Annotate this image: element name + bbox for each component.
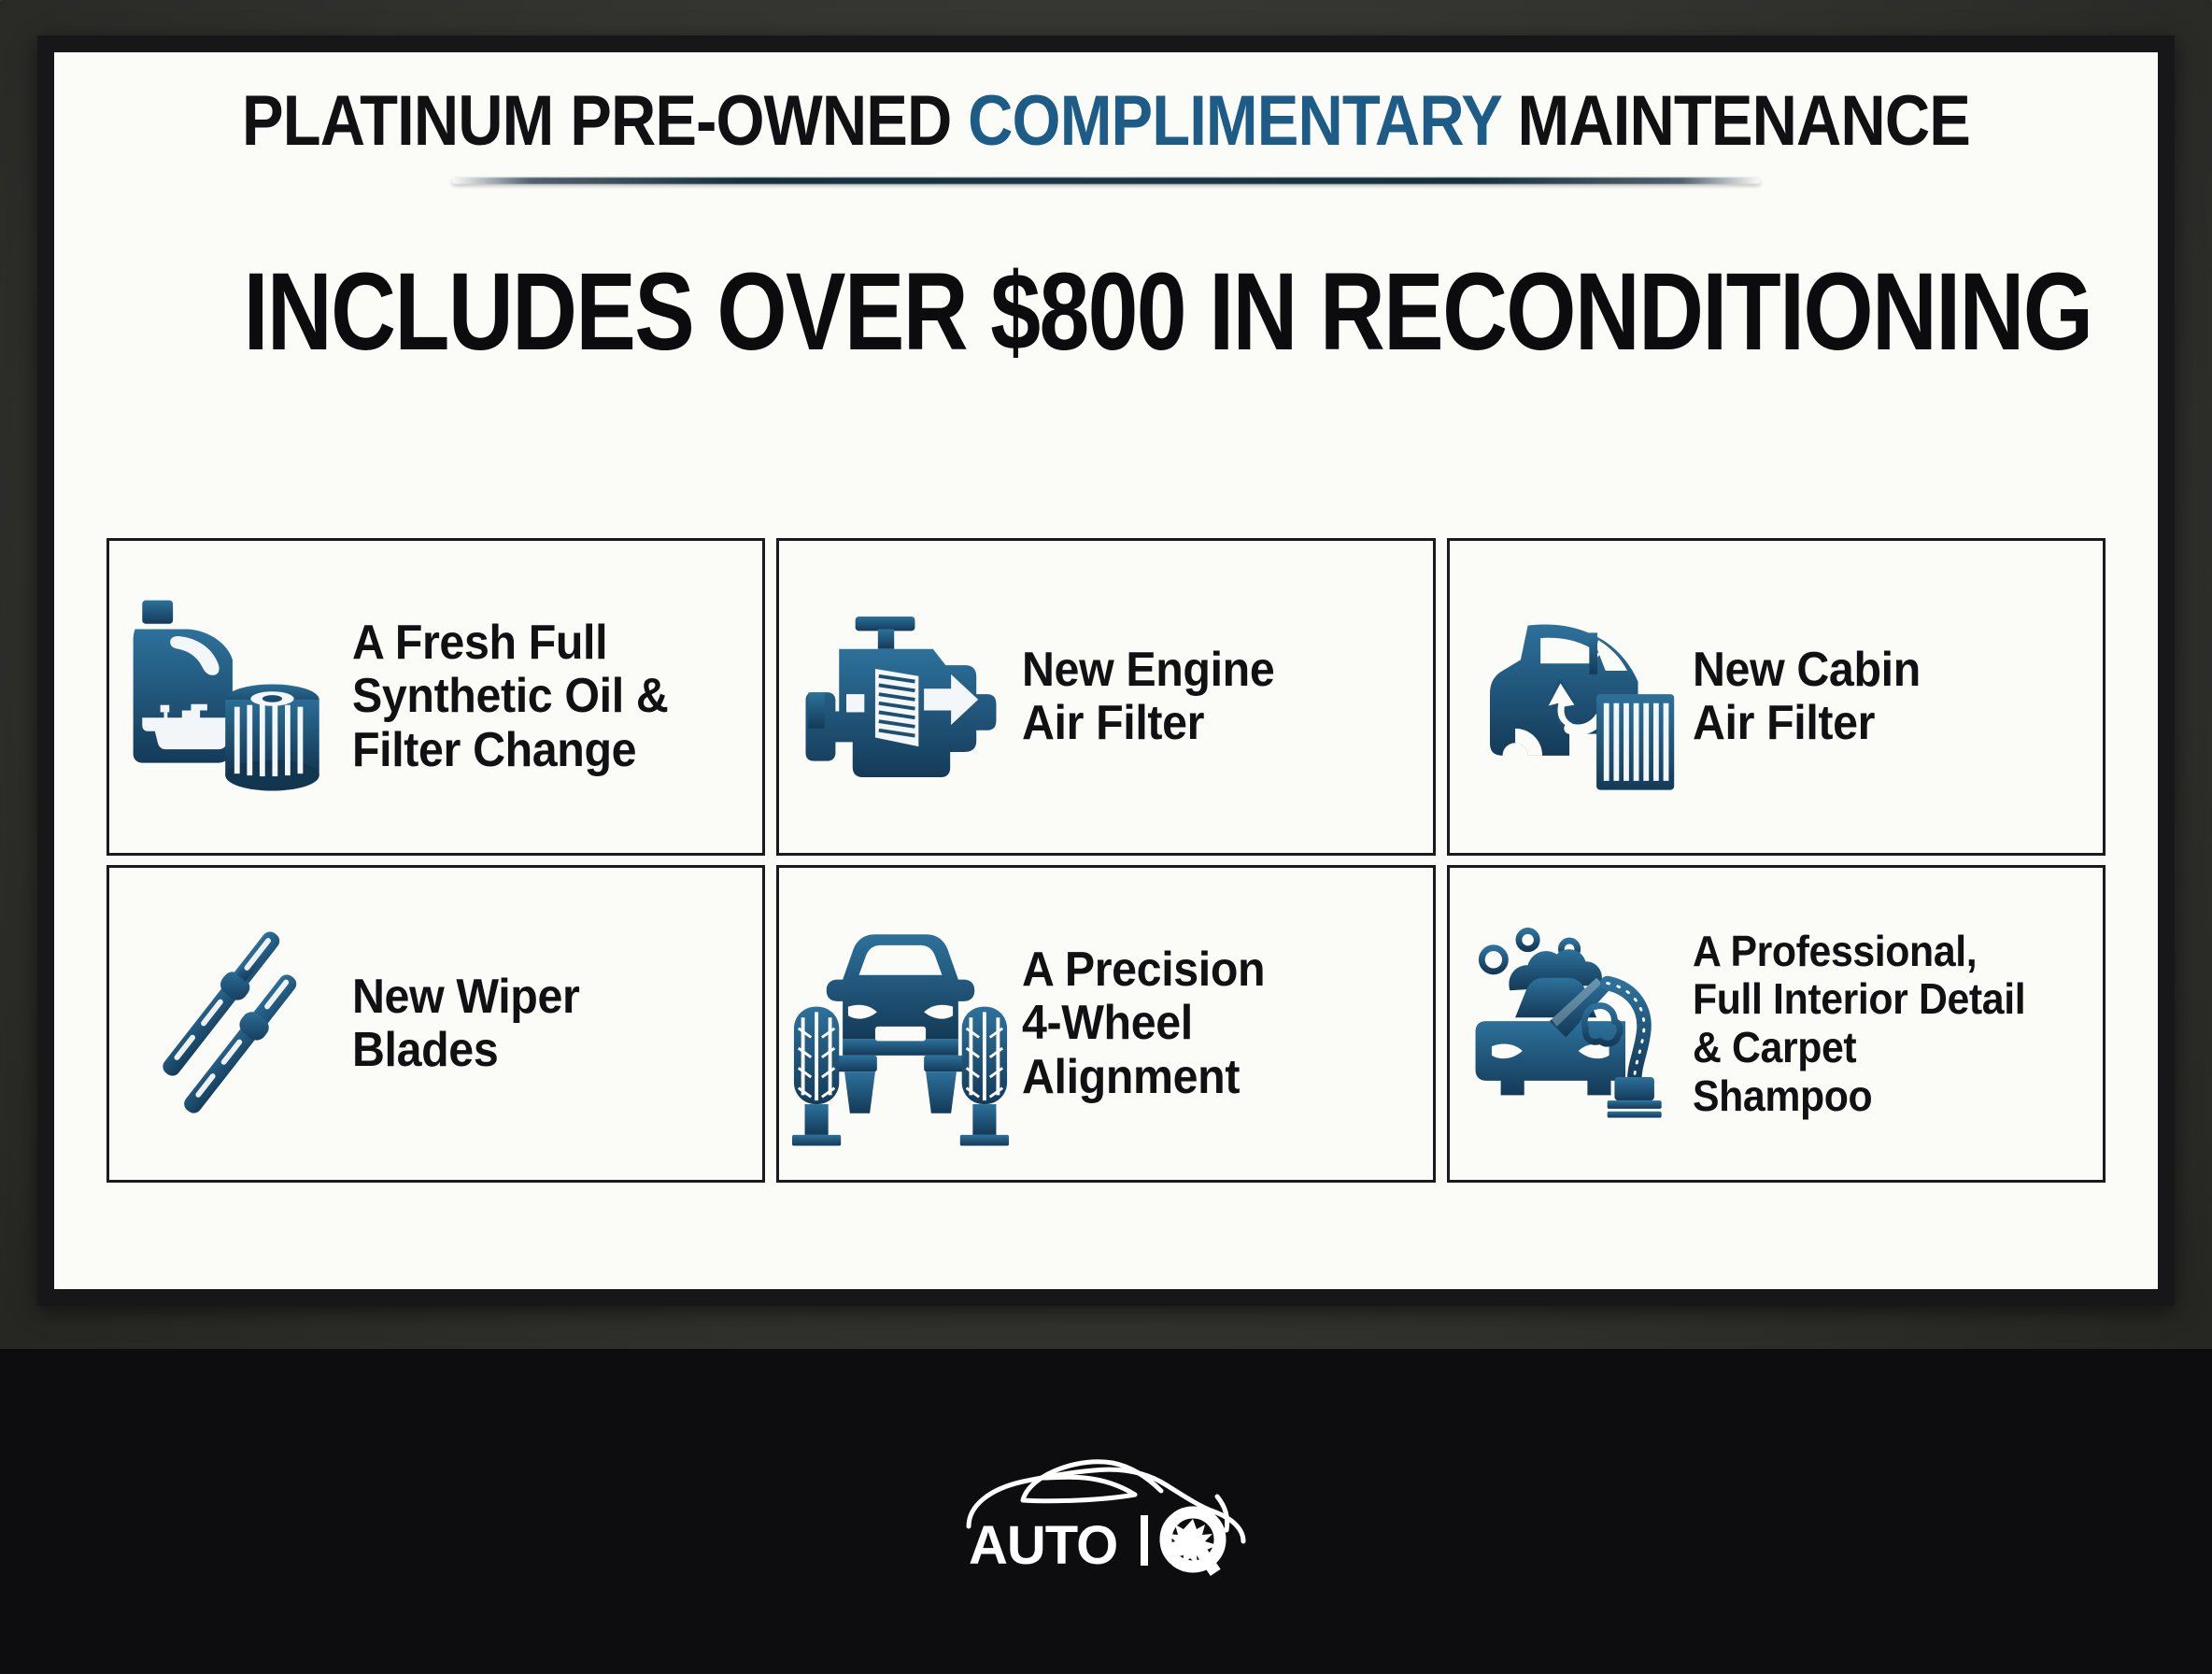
benefit-card-interior-detail: A Professional, Full Interior Detail & C… [1447, 865, 2106, 1183]
benefit-label-cabin-air-filter: New Cabin Air Filter [1693, 644, 1921, 750]
benefit-label-text: A Professional, Full Interior Detail & C… [1693, 927, 2025, 1120]
title-divider-wrap [54, 177, 2158, 184]
poster-frame: PLATINUM PRE-OWNED COMPLIMENTARY MAINTEN… [37, 35, 2175, 1306]
benefit-label-interior-detail: A Professional, Full Interior Detail & C… [1693, 928, 2025, 1120]
benefit-label-oil-change: A Fresh Full Synthetic Oil & Filter Chan… [352, 617, 668, 777]
benefit-label-text: New Engine Air Filter [1022, 643, 1274, 750]
benefit-card-wiper-blades: New Wiper Blades [106, 865, 765, 1183]
benefit-label-wheel-alignment: A Precision 4-Wheel Alignment [1022, 943, 1265, 1104]
benefit-label-text: New Cabin Air Filter [1693, 643, 1921, 750]
logo-text-auto: AUTO [969, 1515, 1117, 1576]
logo-divider-icon [1141, 1515, 1148, 1566]
engine-air-filter-icon [792, 589, 1009, 804]
benefit-card-wheel-alignment: A Precision 4-Wheel Alignment [776, 865, 1435, 1183]
benefit-card-cabin-air-filter: New Cabin Air Filter [1447, 538, 2106, 856]
cabin-air-filter-icon [1463, 589, 1680, 804]
benefit-card-oil-change: A Fresh Full Synthetic Oil & Filter Chan… [106, 538, 765, 856]
title-accent: COMPLIMENTARY [968, 81, 1501, 161]
title-part-2: MAINTENANCE [1501, 81, 1970, 161]
title-row: PLATINUM PRE-OWNED COMPLIMENTARY MAINTEN… [54, 52, 2158, 157]
title-part-1: PLATINUM PRE-OWNED [242, 81, 968, 161]
poster-panel: PLATINUM PRE-OWNED COMPLIMENTARY MAINTEN… [54, 52, 2158, 1289]
wheel-alignment-icon [792, 916, 1009, 1131]
interior-detail-vacuum-icon [1463, 916, 1680, 1131]
oil-jug-and-filter-icon [122, 589, 339, 804]
benefit-label-text: A Precision 4-Wheel Alignment [1022, 943, 1265, 1103]
page-title: PLATINUM PRE-OWNED COMPLIMENTARY MAINTEN… [180, 86, 2032, 157]
footer-bar: AUTO [0, 1349, 2212, 1674]
benefit-label-text: New Wiper Blades [352, 970, 579, 1077]
benefit-label-engine-air-filter: New Engine Air Filter [1022, 644, 1274, 750]
benefit-label-wiper-blades: New Wiper Blades [352, 971, 579, 1077]
title-divider [452, 177, 1760, 184]
auto-iq-logo[interactable]: AUTO [952, 1437, 1260, 1586]
wiper-blades-icon [122, 916, 339, 1131]
benefit-card-engine-air-filter: New Engine Air Filter [776, 538, 1435, 856]
benefits-grid: A Fresh Full Synthetic Oil & Filter Chan… [106, 538, 2106, 1183]
subheadline: INCLUDES OVER $800 IN RECONDITIONING [244, 257, 1969, 367]
benefit-label-text: A Fresh Full Synthetic Oil & Filter Chan… [352, 616, 668, 776]
